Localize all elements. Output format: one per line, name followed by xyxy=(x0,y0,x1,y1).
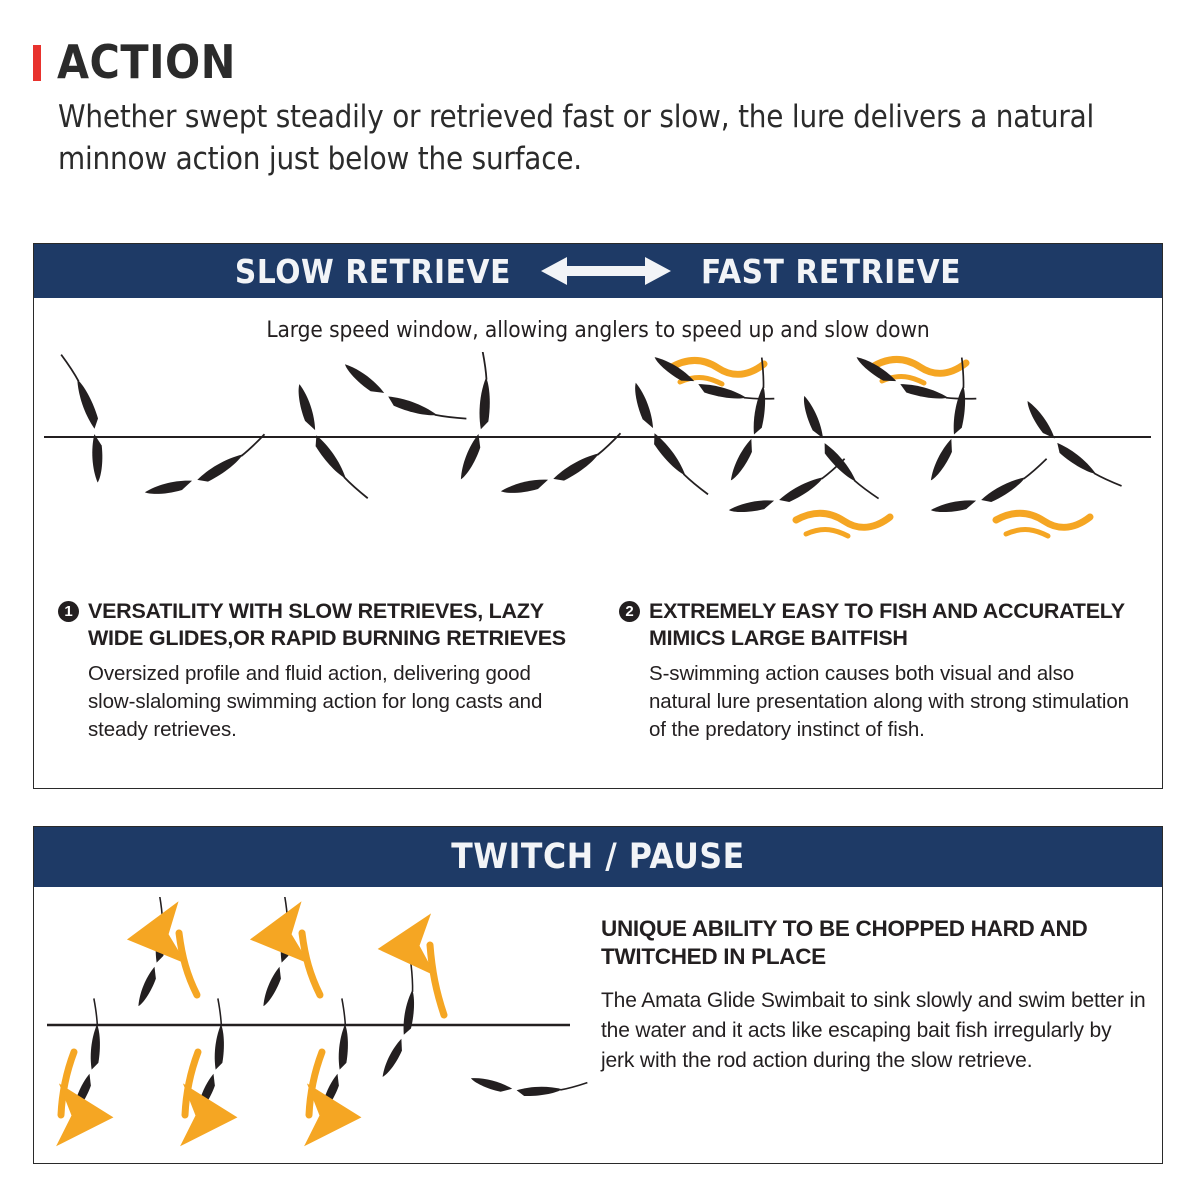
title-row: ACTION xyxy=(33,36,1163,88)
bullet-column-1: 1 VERSATILITY WITH SLOW RETRIEVES, LAZY … xyxy=(58,598,599,745)
red-accent-bar-icon xyxy=(33,45,41,81)
retrieve-bullets: 1 VERSATILITY WITH SLOW RETRIEVES, LAZY … xyxy=(34,598,1162,745)
twitch-panel-header: TWITCH / PAUSE xyxy=(34,827,1162,887)
twitch-panel: TWITCH / PAUSE xyxy=(33,826,1163,1164)
bullet-column-2: 2 EXTREMELY EASY TO FISH AND ACCURATELY … xyxy=(599,598,1140,745)
bullet-2-body: S-swimming action causes both visual and… xyxy=(649,660,1140,744)
retrieve-panel-body: Large speed window, allowing anglers to … xyxy=(34,298,1162,788)
bullet-1-head: 1 VERSATILITY WITH SLOW RETRIEVES, LAZY … xyxy=(58,598,573,651)
twitch-pause-label: TWITCH / PAUSE xyxy=(451,837,745,877)
twitch-text-block: UNIQUE ABILITY TO BE CHOPPED HARD AND TW… xyxy=(601,915,1146,1076)
twitch-panel-body: UNIQUE ABILITY TO BE CHOPPED HARD AND TW… xyxy=(34,887,1162,1163)
infographic-page: ACTION Whether swept steadily or retriev… xyxy=(0,0,1200,1200)
twitch-title: UNIQUE ABILITY TO BE CHOPPED HARD AND TW… xyxy=(601,915,1146,972)
speed-window-caption: Large speed window, allowing anglers to … xyxy=(34,298,1162,343)
bullet-1-number: 1 xyxy=(58,601,79,622)
retrieve-panel: SLOW RETRIEVE FAST RETRIEVE Large speed … xyxy=(33,243,1163,789)
bullet-1-body: Oversized profile and fluid action, deli… xyxy=(88,660,573,744)
double-arrow-icon xyxy=(541,254,671,288)
twitch-path-diagram xyxy=(42,897,602,1147)
page-title: ACTION xyxy=(57,39,236,85)
swim-path-diagram xyxy=(34,352,1161,552)
retrieve-panel-header: SLOW RETRIEVE FAST RETRIEVE xyxy=(34,244,1162,298)
bullet-2-title: EXTREMELY EASY TO FISH AND ACCURATELY MI… xyxy=(649,598,1140,651)
bullet-2-head: 2 EXTREMELY EASY TO FISH AND ACCURATELY … xyxy=(619,598,1140,651)
page-subtitle: Whether swept steadily or retrieved fast… xyxy=(58,96,1128,180)
slow-retrieve-label: SLOW RETRIEVE xyxy=(235,252,511,291)
twitch-body: The Amata Glide Swimbait to sink slowly … xyxy=(601,986,1146,1076)
page-header: ACTION Whether swept steadily or retriev… xyxy=(33,36,1163,180)
fast-retrieve-label: FAST RETRIEVE xyxy=(701,252,961,291)
bullet-2-number: 2 xyxy=(619,601,640,622)
bullet-1-title: VERSATILITY WITH SLOW RETRIEVES, LAZY WI… xyxy=(88,598,573,651)
